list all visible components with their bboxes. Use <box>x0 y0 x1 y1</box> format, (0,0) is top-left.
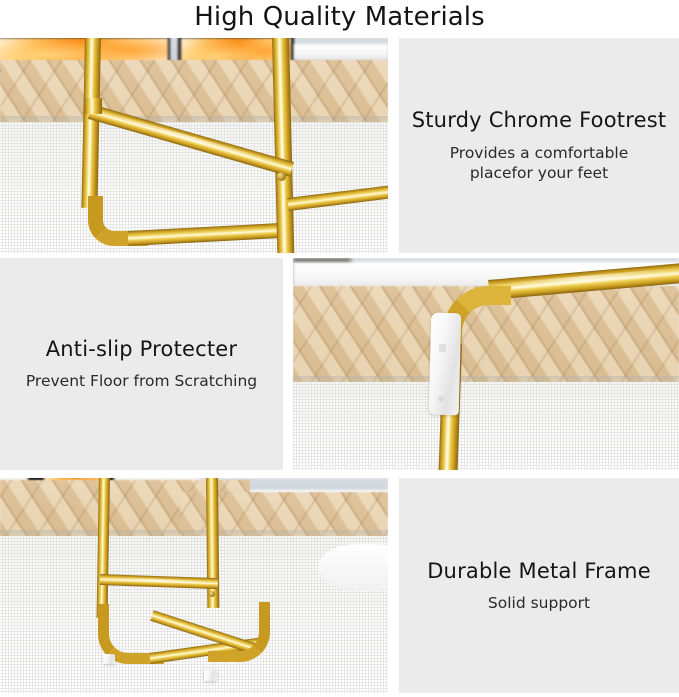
protector-subtitle: Prevent Floor from Scratching <box>12 371 271 391</box>
protector-heading: Anti-slip Protecter <box>38 336 246 362</box>
anti-slip-protector-closeup-photo <box>293 258 679 470</box>
metal-frame-photo <box>0 478 388 693</box>
frame-heading: Durable Metal Frame <box>419 558 659 584</box>
protector-text-panel: Anti-slip Protecter Prevent Floor from S… <box>0 258 283 470</box>
footrest-subtitle: Provides a comfortable placefor your fee… <box>405 143 673 184</box>
frame-subtitle: Solid support <box>474 593 604 613</box>
page-title: High Quality Materials <box>0 0 679 36</box>
frame-text-panel: Durable Metal Frame Solid support <box>399 478 679 693</box>
footrest-text-panel: Sturdy Chrome Footrest Provides a comfor… <box>399 38 679 253</box>
footrest-closeup-photo <box>0 38 388 253</box>
footrest-heading: Sturdy Chrome Footrest <box>404 107 675 133</box>
